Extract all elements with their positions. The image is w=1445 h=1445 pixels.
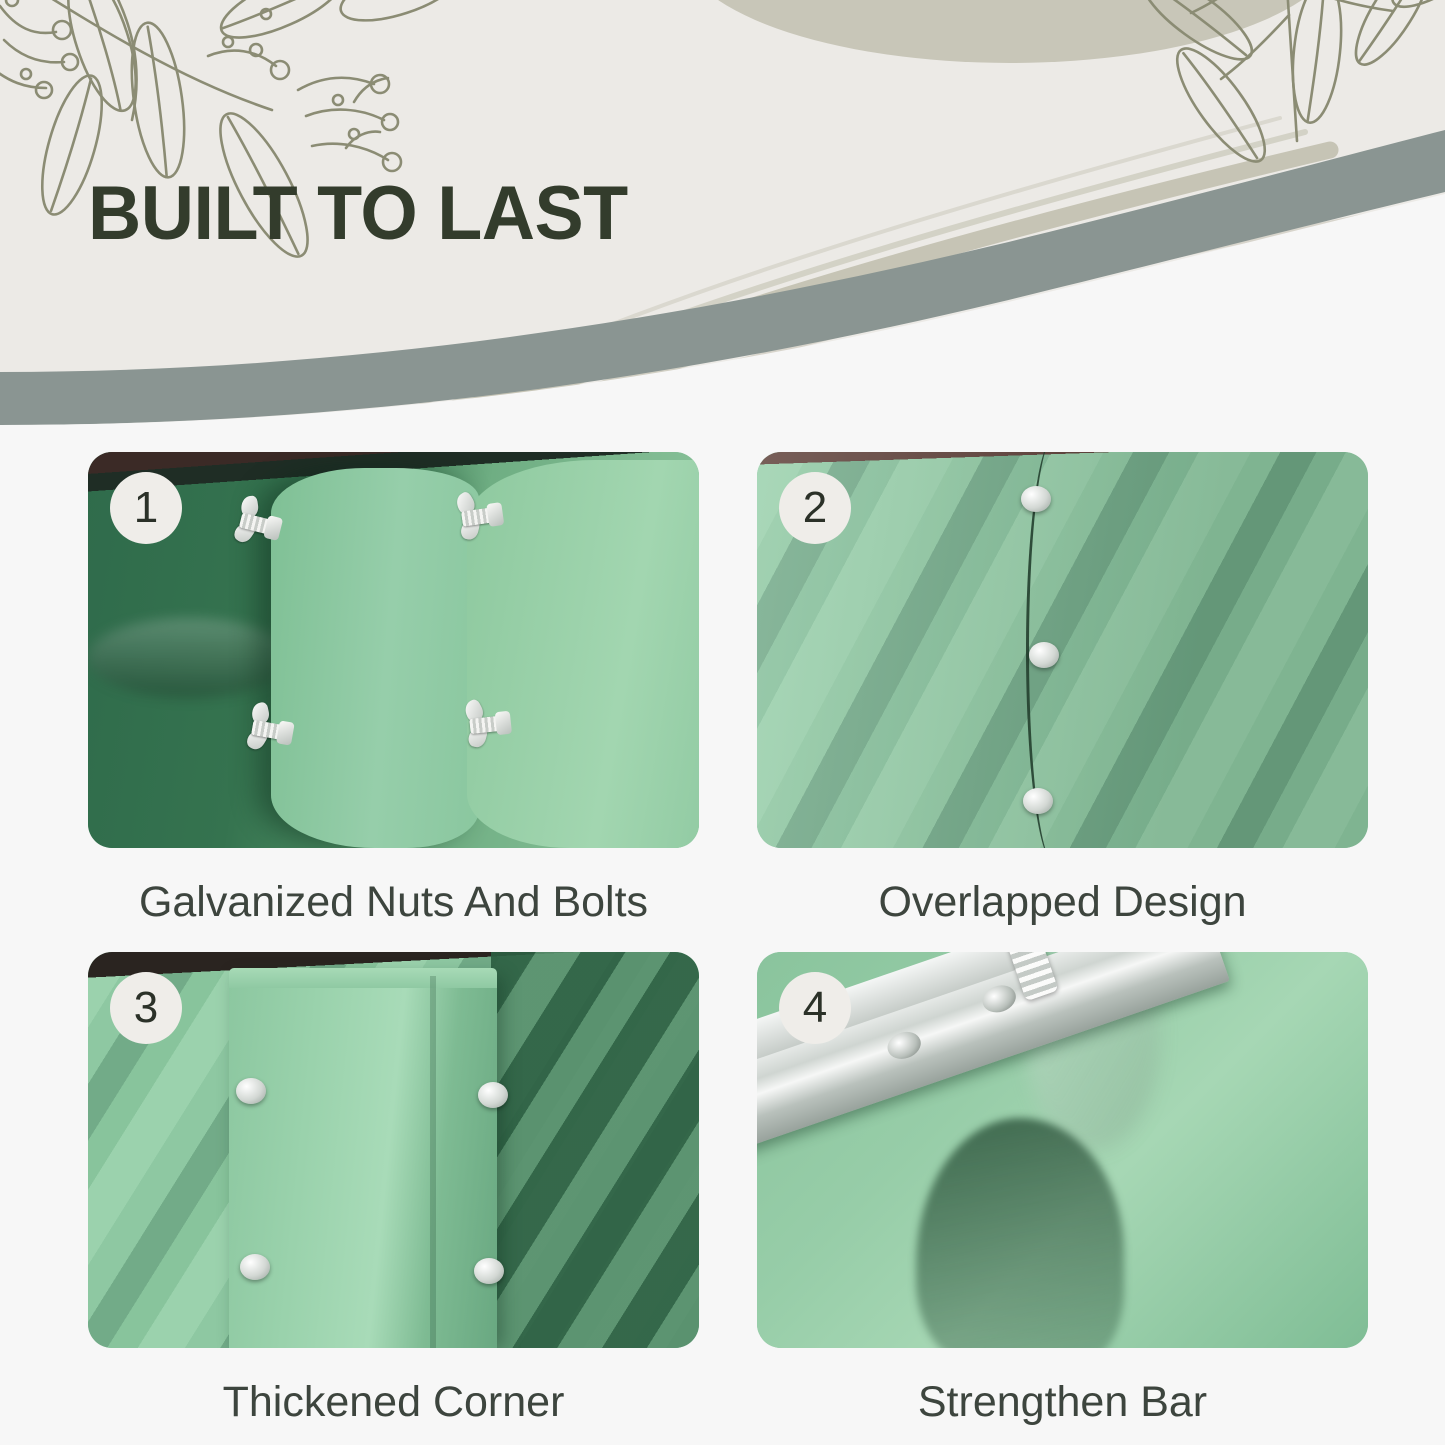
screw-icon: [240, 1254, 270, 1280]
shadowed-wall-section: [491, 952, 699, 1348]
feature-image-4: 4: [757, 952, 1368, 1348]
feature-image-1: 1: [88, 452, 699, 848]
corner-post-cap: [229, 968, 498, 988]
feature-caption-2: Overlapped Design: [757, 878, 1368, 927]
feature-card-2[interactable]: 2 Overlapped Design: [757, 452, 1368, 927]
feature-card-3[interactable]: 3 Thickened Corner: [88, 952, 699, 1427]
wing-bolt-icon: [455, 493, 506, 541]
screw-icon: [236, 1078, 266, 1104]
feature-caption-1: Galvanized Nuts And Bolts: [88, 878, 699, 927]
feature-card-1[interactable]: 1 Galvanized Nuts And Bolts: [88, 452, 699, 927]
feature-number-badge-4: 4: [779, 972, 851, 1044]
metal-fold-highlight: [88, 618, 290, 697]
bolt-hole-icon: [979, 981, 1020, 1017]
metal-sheet-front: [271, 468, 479, 848]
bolt-hole-icon: [884, 1027, 925, 1063]
feature-image-2: 2: [757, 452, 1368, 848]
feature-image-3: 3: [88, 952, 699, 1348]
corner-post-edge: [430, 976, 436, 1348]
screw-icon: [1023, 788, 1053, 814]
feature-number-badge-1: 1: [110, 472, 182, 544]
feature-number-badge-3: 3: [110, 972, 182, 1044]
wing-bolt-icon: [464, 702, 514, 749]
wing-bolt-icon: [245, 706, 298, 755]
feature-caption-4: Strengthen Bar: [757, 1378, 1368, 1427]
feature-caption-3: Thickened Corner: [88, 1378, 699, 1427]
screw-icon: [474, 1258, 504, 1284]
feature-card-4[interactable]: 4 Strengthen Bar: [757, 952, 1368, 1427]
page-title: BUILT TO LAST: [88, 176, 628, 252]
feature-number-badge-2: 2: [779, 472, 851, 544]
header-banner: BUILT TO LAST: [0, 0, 1445, 425]
corner-post: [229, 976, 498, 1348]
screw-icon: [1021, 486, 1051, 512]
feature-grid: 1 Galvanized Nuts And Bolts 2 Overlapped…: [0, 430, 1445, 1445]
screw-icon: [478, 1082, 508, 1108]
screw-icon: [1029, 642, 1059, 668]
